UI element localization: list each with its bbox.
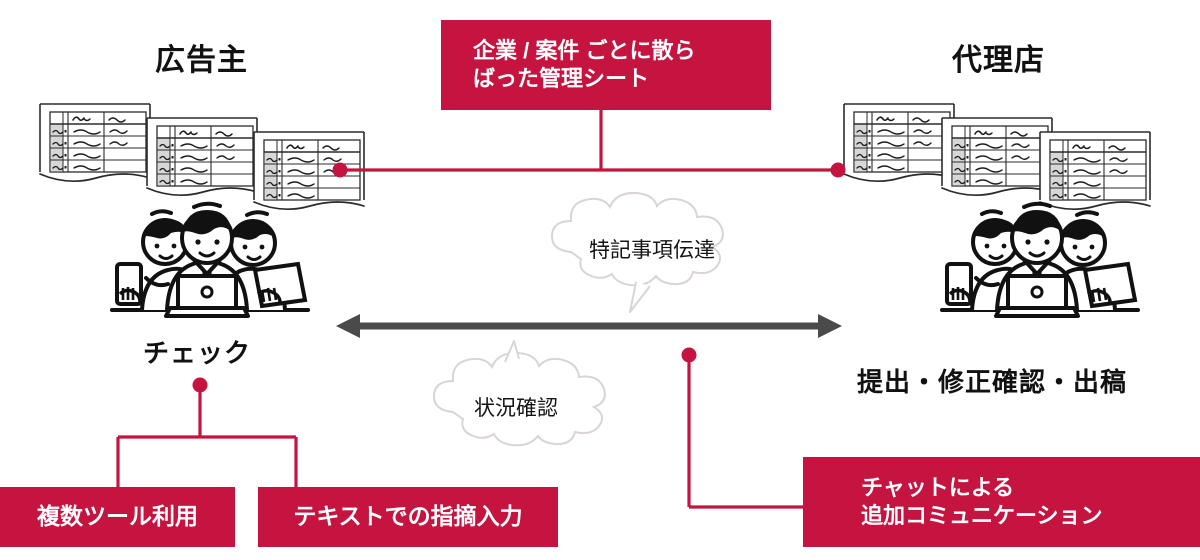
cloud-label-special-notes: 特記事項伝達	[589, 234, 715, 264]
worried-team-icon-agency	[942, 204, 1138, 316]
callout-chat-communication[interactable]: チャットによる 追加コミュニケーション	[803, 457, 1200, 547]
spreadsheet-icon	[942, 118, 1052, 195]
label-check: チェック	[143, 333, 251, 370]
spreadsheet-group-advertiser	[40, 104, 364, 209]
box-text-feedback-label: テキストでの指摘入力	[293, 502, 522, 531]
label-submit-revise-publish: 提出・修正確認・出稿	[857, 362, 1127, 399]
callout-chat-communication-label: チャットによる 追加コミュニケーション	[861, 474, 1103, 530]
double-arrow-icon	[336, 314, 842, 338]
chat-connector	[682, 348, 813, 508]
check-bracket-connector	[118, 378, 296, 489]
connector-dot-icon	[333, 163, 348, 178]
callout-scattered-sheets-label: 企業 / 案件 ごとに散ら ばった管理シート	[473, 37, 695, 93]
spreadsheet-icon	[844, 104, 954, 181]
spreadsheet-icon	[1040, 132, 1150, 209]
spreadsheet-icon	[147, 118, 257, 195]
diagram-canvas: 企業 / 案件 ごとに散ら ばった管理シート 複数ツール利用 テキストでの指摘入…	[0, 0, 1200, 560]
callout-scattered-sheets[interactable]: 企業 / 案件 ごとに散ら ばった管理シート	[441, 20, 771, 110]
cloud-label-status-check: 状況確認	[474, 392, 558, 422]
box-text-feedback[interactable]: テキストでの指摘入力	[258, 487, 558, 547]
title-agency: 代理店	[952, 35, 1045, 79]
spreadsheet-group-agency	[844, 104, 1150, 209]
spreadsheet-icon	[40, 104, 150, 181]
title-advertiser: 広告主	[155, 35, 248, 79]
box-multiple-tools[interactable]: 複数ツール利用	[0, 487, 235, 547]
sheet-connector-line	[333, 110, 846, 178]
connector-dot-icon	[831, 163, 846, 178]
worried-team-icon-advertiser	[112, 204, 308, 316]
box-multiple-tools-label: 複数ツール利用	[37, 502, 198, 531]
